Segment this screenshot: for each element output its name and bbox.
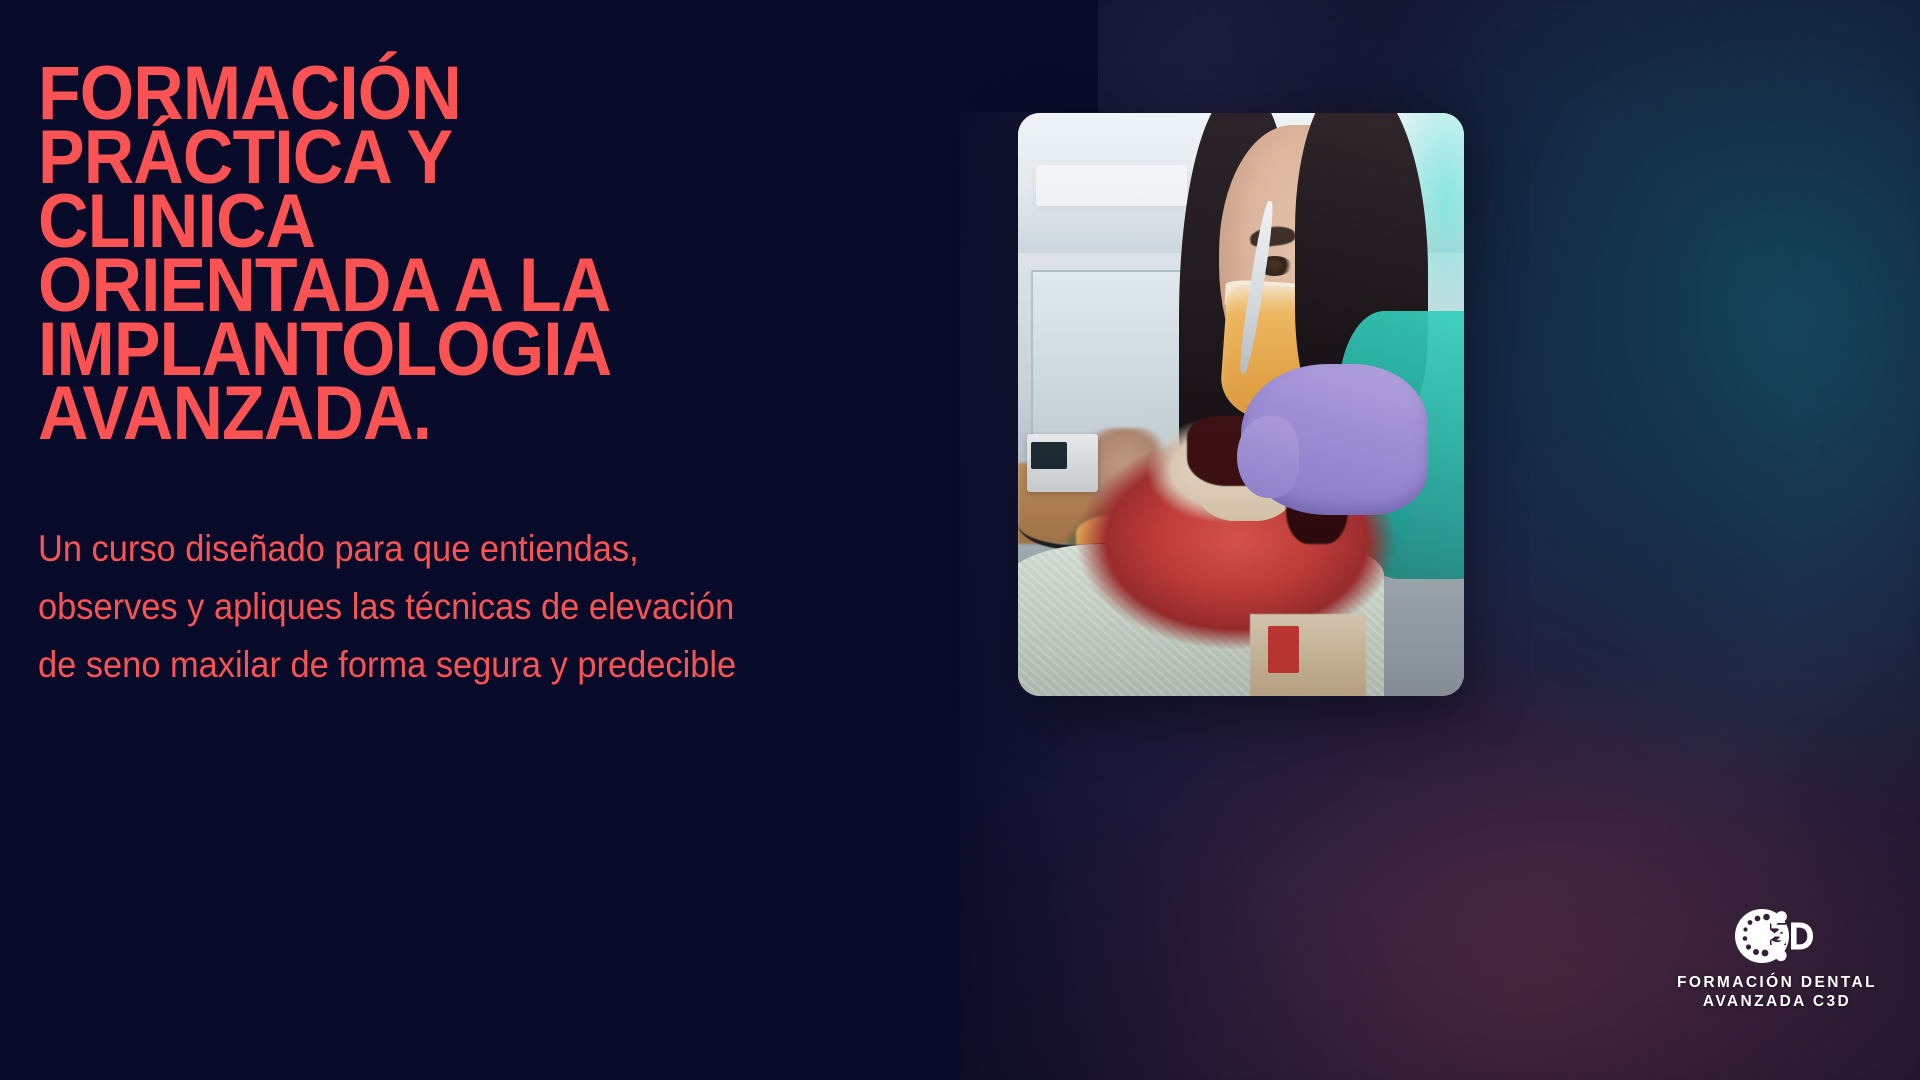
photo-card	[1018, 113, 1464, 696]
photo-color-grade-overlay	[1018, 113, 1464, 696]
page-title: FORMACIÓN PRÁCTICA Y CLINICA ORIENTADA A…	[38, 62, 756, 446]
c3d-circle-dots-icon	[1729, 905, 1825, 967]
brand-logo-text: FORMACIÓN DENTAL AVANZADA C3D	[1672, 973, 1882, 1011]
slide-root: FORMACIÓN PRÁCTICA Y CLINICA ORIENTADA A…	[0, 0, 1920, 1080]
brand-logo: FORMACIÓN DENTAL AVANZADA C3D	[1672, 905, 1882, 1035]
copy-block: FORMACIÓN PRÁCTICA Y CLINICA ORIENTADA A…	[38, 0, 838, 1080]
subtitle-paragraph: Un curso diseñado para que entiendas, ob…	[38, 520, 773, 694]
